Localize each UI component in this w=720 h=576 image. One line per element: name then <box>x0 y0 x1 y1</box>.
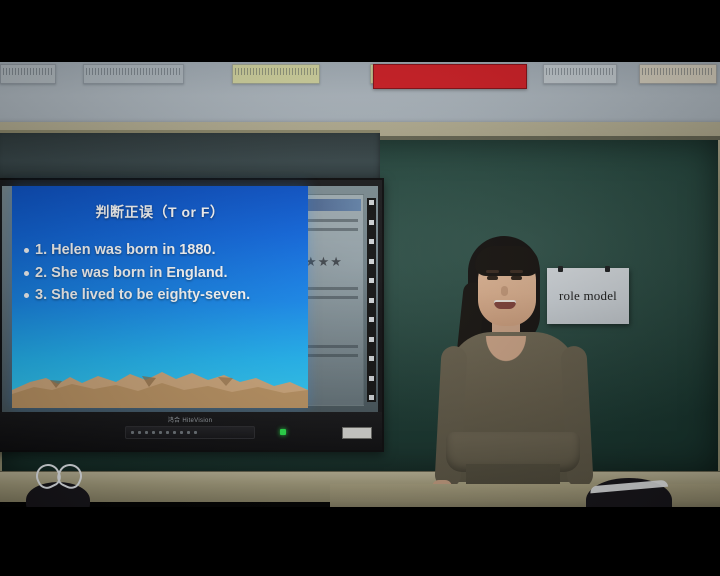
control-key[interactable] <box>138 431 141 434</box>
power-led-icon <box>280 429 286 435</box>
slide-bullet-item: 3. She lived to be eighty-seven. <box>24 285 298 306</box>
slide-dune-artwork <box>12 360 308 408</box>
wall-placard-2 <box>83 64 184 84</box>
video-frame: ★★★ <box>0 0 720 576</box>
control-key[interactable] <box>173 431 176 434</box>
interactive-whiteboard[interactable]: ★★★ <box>0 178 384 452</box>
dunes-svg <box>12 360 308 408</box>
slide-bullet-item: 2. She was born in England. <box>24 263 298 284</box>
placard-texture <box>86 68 181 75</box>
rating-stars: ★★★ <box>305 255 343 268</box>
control-key[interactable] <box>180 431 183 434</box>
teacher-mouth <box>494 300 516 309</box>
whiteboard-control-keys[interactable] <box>125 426 255 439</box>
wall-placard-3 <box>232 64 320 84</box>
slide-bullet-item: 1. Helen was born in 1880. <box>24 240 298 261</box>
teacher-eye-left <box>487 276 498 280</box>
strip-button[interactable] <box>369 317 374 322</box>
teacher-eye-right <box>511 276 522 280</box>
side-panel-line <box>306 296 358 299</box>
strip-button[interactable] <box>369 239 374 244</box>
teacher-eyebrow-right <box>510 270 523 273</box>
slide-bullet-list: 1. Helen was born in 1880. 2. She was bo… <box>24 240 298 308</box>
bullet-dot-icon <box>24 271 29 276</box>
wall-placard-1 <box>0 64 56 84</box>
whiteboard-brand-label: 鸿合 HiteVision <box>0 415 382 424</box>
letterbox-top <box>0 0 720 62</box>
slide-title: 判断正误（T or F） <box>12 202 308 222</box>
side-panel-line <box>306 354 358 357</box>
placard-texture <box>3 68 53 75</box>
wall-banner-red-main <box>373 64 527 89</box>
whiteboard-spec-sticker <box>342 427 372 439</box>
side-panel-line <box>306 345 358 348</box>
whiteboard-bezel-bottom: 鸿合 HiteVision <box>0 412 382 450</box>
strip-button[interactable] <box>369 298 374 303</box>
whiteboard-side-panel: ★★★ <box>300 194 364 406</box>
wall-placard-5 <box>543 64 617 84</box>
control-key[interactable] <box>194 431 197 434</box>
wall-placard-6 <box>639 64 717 84</box>
control-key[interactable] <box>145 431 148 434</box>
control-key[interactable] <box>159 431 162 434</box>
strip-button[interactable] <box>369 278 374 283</box>
placard-texture <box>642 68 714 75</box>
control-key[interactable] <box>187 431 190 434</box>
control-key[interactable] <box>131 431 134 434</box>
slide-bullet-text: 1. Helen was born in 1880. <box>35 240 298 261</box>
strip-button[interactable] <box>369 395 374 400</box>
letterbox-bottom <box>0 507 720 576</box>
placard-texture <box>235 68 317 75</box>
strip-button[interactable] <box>369 220 374 225</box>
teacher-nose <box>501 286 508 296</box>
slide-bullet-text: 2. She was born in England. <box>35 263 298 284</box>
teacher-eyebrow-left <box>486 270 499 273</box>
whiteboard-button-strip[interactable] <box>367 198 376 402</box>
side-panel-line <box>306 219 358 222</box>
bullet-dot-icon <box>24 248 29 253</box>
ribbon-bow-icon <box>36 464 82 486</box>
bullet-dot-icon <box>24 293 29 298</box>
slide-bullet-text: 3. She lived to be eighty-seven. <box>35 285 298 306</box>
magnet-icon <box>605 266 610 272</box>
control-key[interactable] <box>152 431 155 434</box>
control-key[interactable] <box>166 431 169 434</box>
strip-button[interactable] <box>369 356 374 361</box>
placard-texture <box>546 68 614 75</box>
strip-button[interactable] <box>369 259 374 264</box>
presentation-slide: 判断正误（T or F） 1. Helen was born in 1880. … <box>12 186 308 408</box>
side-panel-line <box>306 228 358 231</box>
classroom-scene: ★★★ <box>0 0 720 576</box>
strip-button[interactable] <box>369 376 374 381</box>
teacher-fringe <box>475 246 539 276</box>
strip-button[interactable] <box>369 200 374 205</box>
side-panel-titlebar <box>303 199 361 211</box>
strip-button[interactable] <box>369 337 374 342</box>
side-panel-line <box>306 287 358 290</box>
